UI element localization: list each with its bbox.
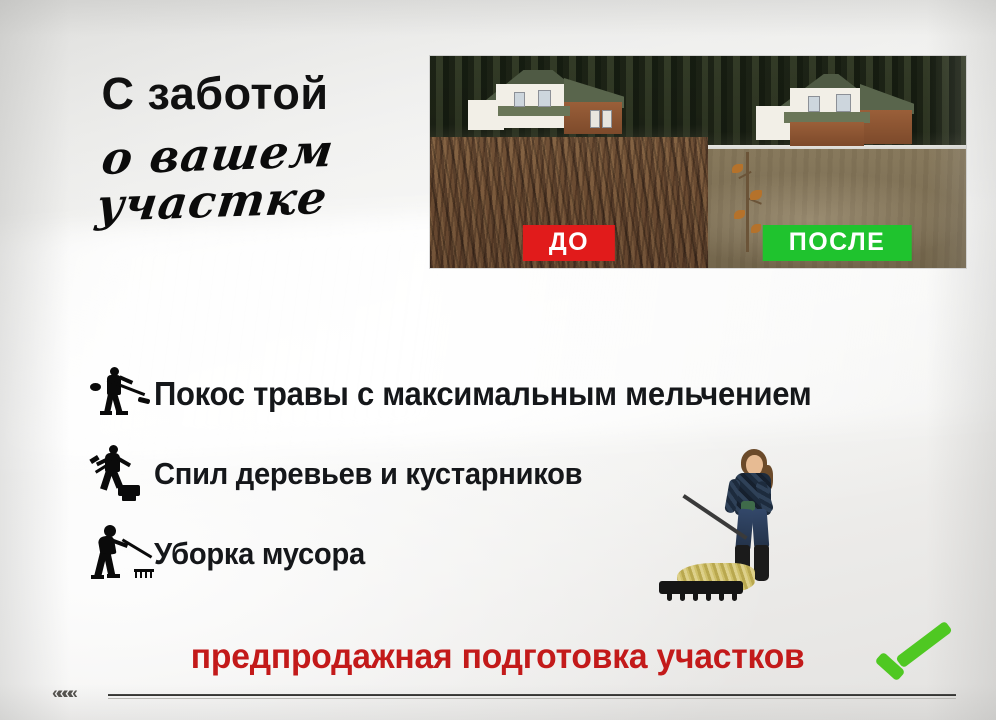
footer-divider-highlight <box>108 698 956 699</box>
chevron-left-decoration: «««« <box>52 683 74 703</box>
house-after <box>756 72 916 158</box>
rake-tine <box>732 592 737 601</box>
headline-line-1: С заботой <box>0 70 430 117</box>
footer-tagline-row: предпродажная подготовка участков <box>0 637 996 677</box>
service-label: Уборка мусора <box>154 536 365 572</box>
grass-trimmer-worker-icon <box>88 365 154 423</box>
badge-before: ДО <box>523 225 615 261</box>
rake-tine <box>693 592 698 601</box>
photo-after: ПОСЛЕ <box>708 56 966 268</box>
slide-canvas: С заботой о вашем участке ДО <box>0 0 996 720</box>
service-label: Спил деревьев и кустарников <box>154 456 582 492</box>
footer-tagline: предпродажная подготовка участков <box>191 637 805 677</box>
tree-felling-worker-icon <box>88 445 154 503</box>
before-after-photo-panel: ДО <box>430 56 966 268</box>
woman-raking-photo <box>655 445 825 620</box>
right-leg <box>752 509 770 550</box>
headline-line-2-script: о вашем участке <box>0 124 437 233</box>
rake-tine <box>667 592 672 601</box>
raking-worker-icon <box>88 525 154 583</box>
badge-after: ПОСЛЕ <box>763 225 912 261</box>
headline-block: С заботой о вашем участке <box>0 70 430 226</box>
right-boot <box>754 545 769 581</box>
service-label: Покос травы с максимальным мельчением <box>154 375 811 413</box>
service-item: Покос травы с максимальным мельчением <box>88 365 948 423</box>
footer-divider <box>108 694 956 696</box>
rake-tine <box>680 592 685 601</box>
rake-tine <box>706 592 711 601</box>
rake-tine <box>719 592 724 601</box>
green-check-icon <box>873 630 959 692</box>
photo-before: ДО <box>430 56 708 268</box>
